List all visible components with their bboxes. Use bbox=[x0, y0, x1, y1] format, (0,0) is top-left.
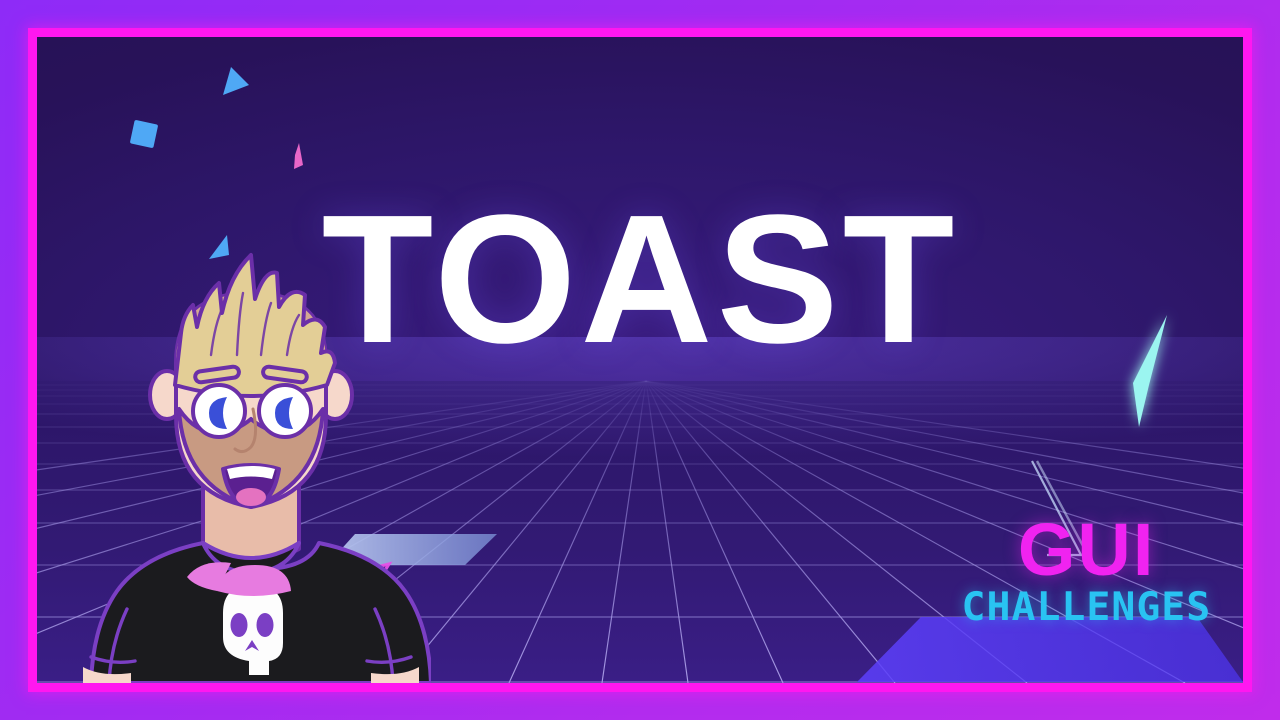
neon-frame-border: TOAST bbox=[28, 28, 1252, 692]
logo-primary-text: GUI bbox=[964, 516, 1209, 584]
gui-challenges-logo: GUI CHALLENGES bbox=[964, 516, 1209, 627]
cyan-shard-icon bbox=[1119, 309, 1189, 439]
scene-background: TOAST bbox=[37, 37, 1243, 683]
video-thumbnail-stage: TOAST bbox=[0, 0, 1280, 720]
blue-triangle-top-icon bbox=[219, 65, 253, 99]
logo-secondary-text: CHALLENGES bbox=[962, 588, 1212, 627]
pink-sliver-icon bbox=[289, 143, 305, 171]
avatar bbox=[71, 213, 431, 683]
blue-square-left-icon bbox=[129, 119, 160, 150]
